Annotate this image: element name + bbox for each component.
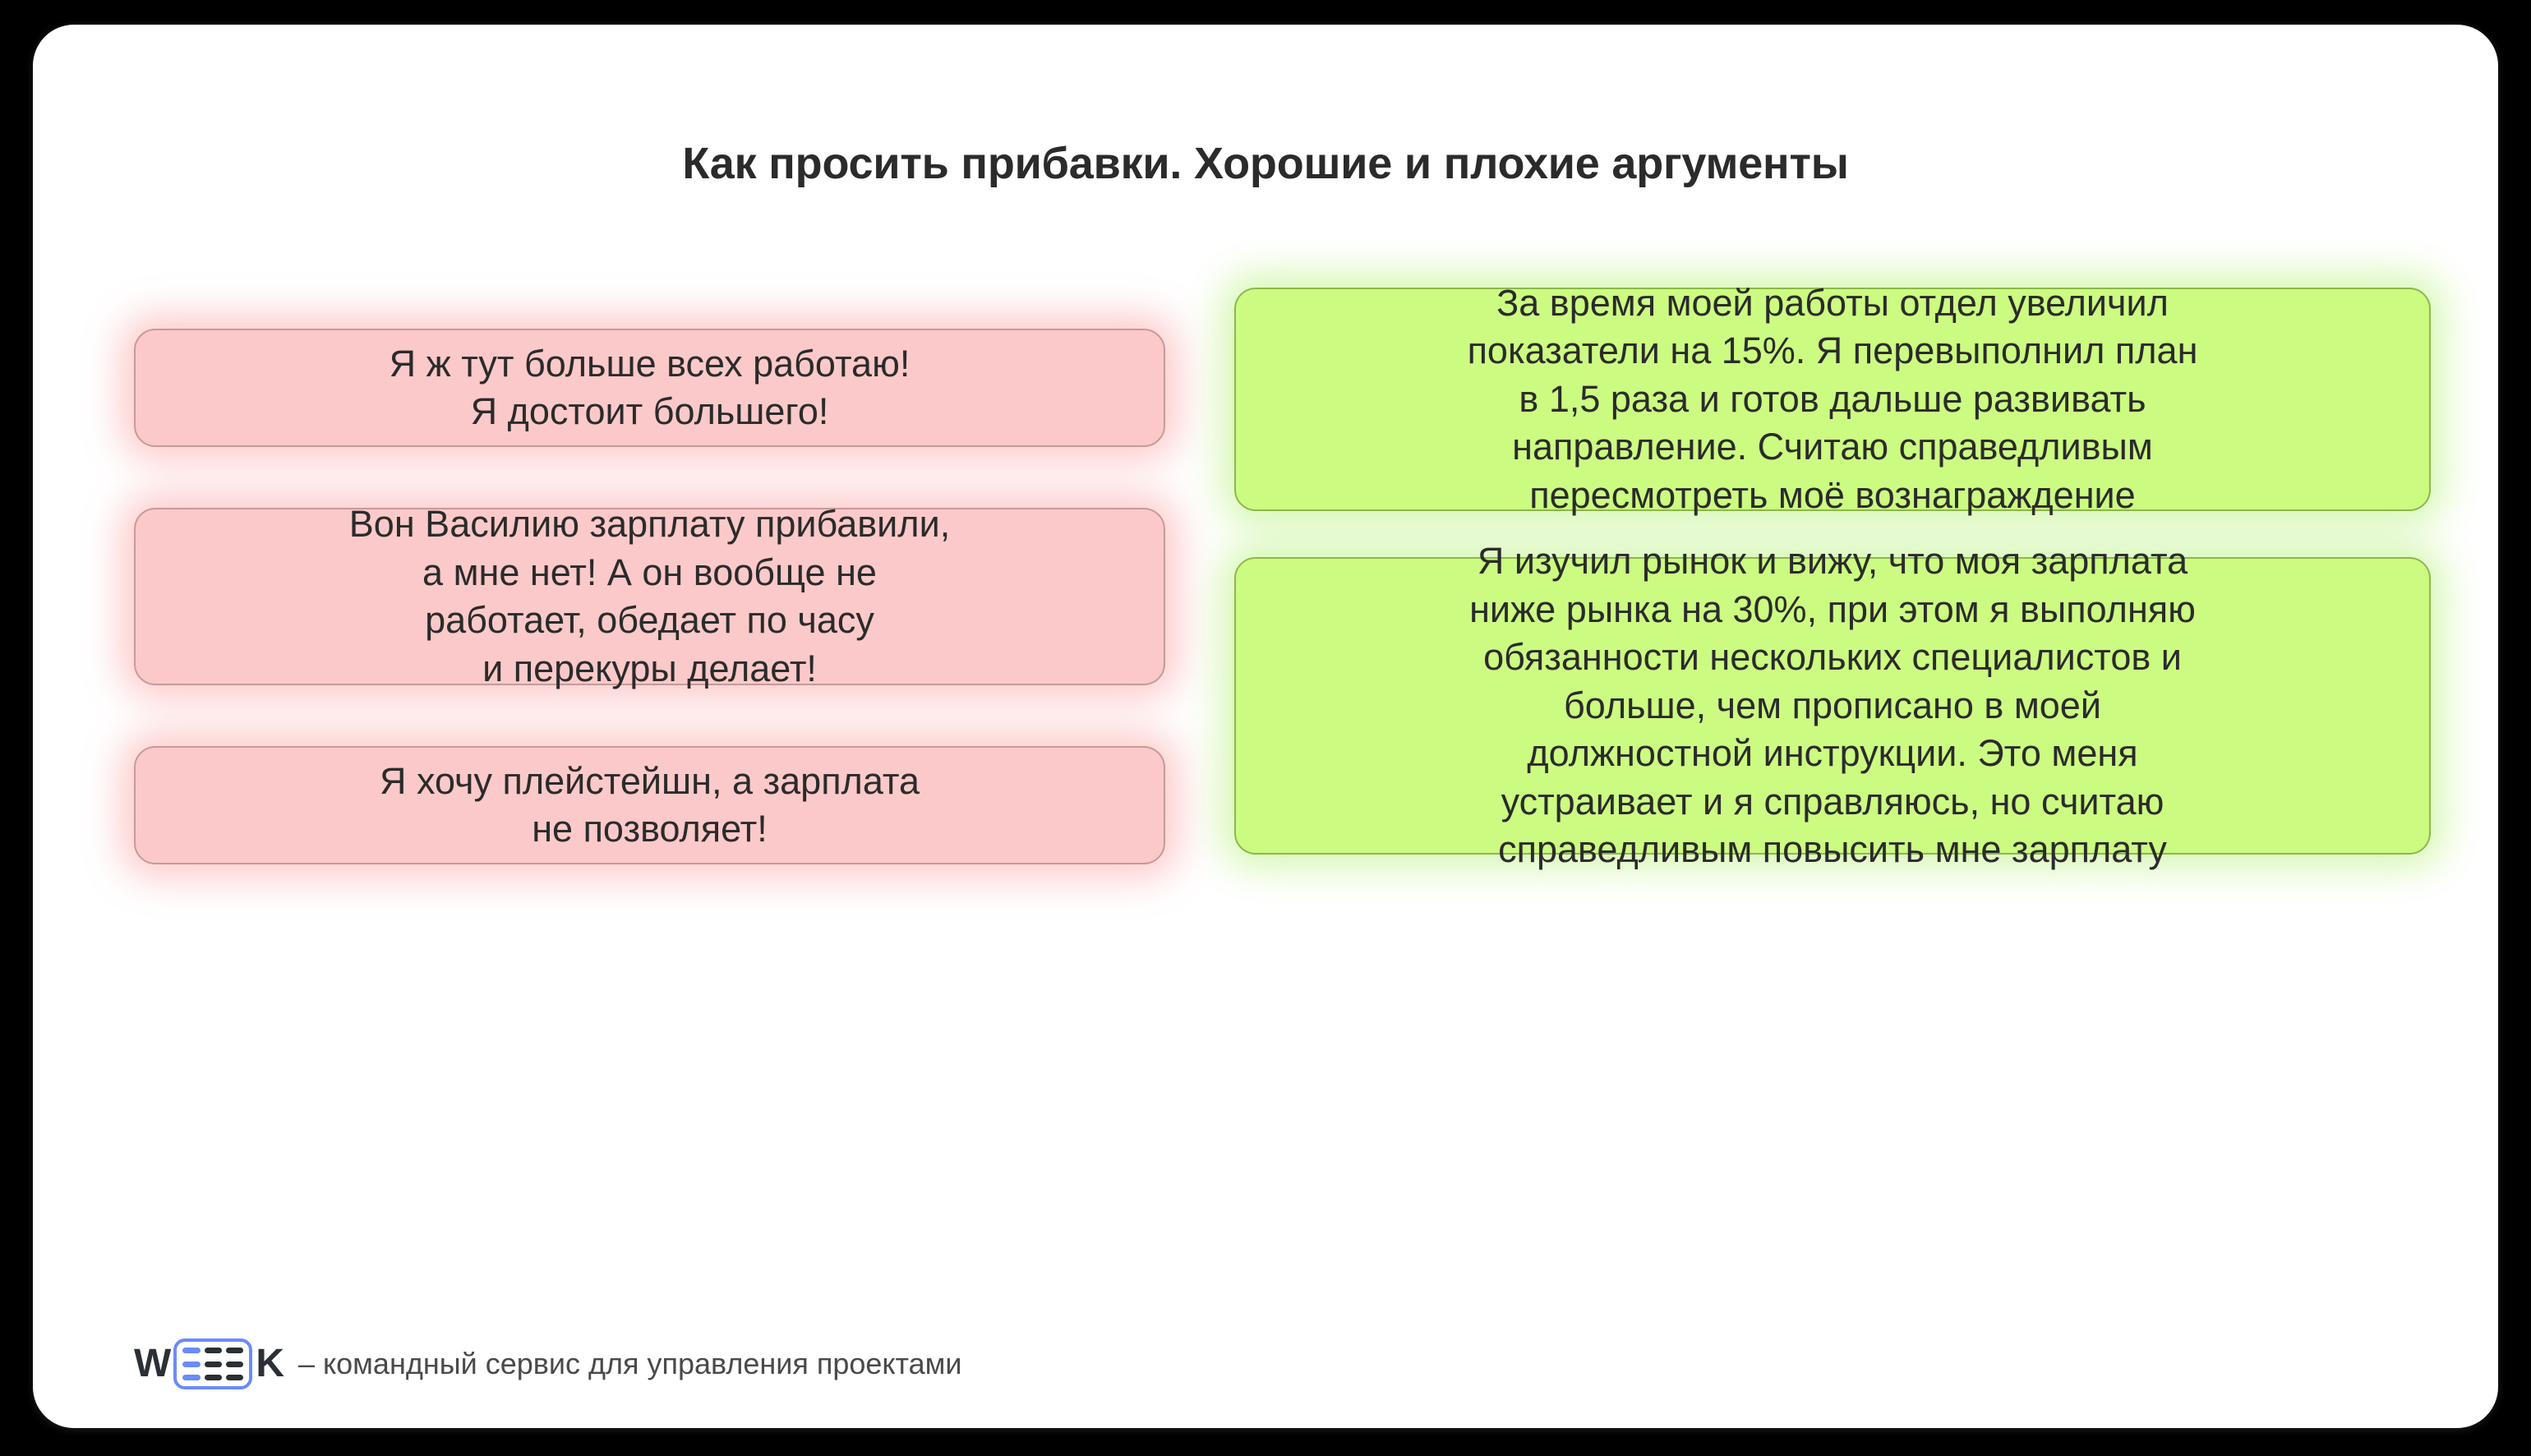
bad-argument-text-3: Я хочу плейстейшн, а зарплата не позволя… — [167, 758, 1132, 854]
page-title: Как просить прибавки. Хорошие и плохие а… — [33, 138, 2498, 189]
grid-bar — [182, 1375, 200, 1380]
good-argument-text-1: За время моей работы отдел увеличил пока… — [1267, 279, 2398, 520]
grid-bar — [205, 1375, 222, 1380]
grid-bar — [226, 1362, 243, 1367]
screenshot-root: Как просить прибавки. Хорошие и плохие а… — [0, 0, 2531, 1456]
bad-arguments-column: Я ж тут больше всех работаю! Я достоит б… — [134, 329, 1165, 864]
weeek-grid-icon — [173, 1339, 252, 1389]
good-argument-card-1: За время моей работы отдел увеличил пока… — [1234, 288, 2431, 511]
footer-tagline: – командный сервис для управления проект… — [298, 1347, 962, 1381]
bad-argument-card-2: Вон Василию зарплату прибавили, а мне не… — [134, 508, 1165, 685]
good-arguments-column: За время моей работы отдел увеличил пока… — [1234, 288, 2431, 855]
footer: W — [134, 1339, 962, 1389]
bad-argument-text-1: Я ж тут больше всех работаю! Я достоит б… — [167, 340, 1132, 436]
bad-argument-text-2: Вон Василию зарплату прибавили, а мне не… — [167, 500, 1132, 693]
grid-bar — [205, 1348, 222, 1353]
grid-bar — [182, 1348, 200, 1353]
bad-argument-card-1: Я ж тут больше всех работаю! Я достоит б… — [134, 329, 1165, 447]
slide-card: Как просить прибавки. Хорошие и плохие а… — [33, 25, 2498, 1428]
good-argument-card-2: Я изучил рынок и вижу, что моя зарплата … — [1234, 557, 2431, 855]
grid-bar — [226, 1375, 243, 1380]
grid-bar — [226, 1348, 243, 1353]
grid-column-2 — [205, 1348, 222, 1380]
grid-column-3 — [226, 1348, 243, 1380]
grid-column-1 — [182, 1348, 200, 1380]
bad-argument-card-3: Я хочу плейстейшн, а зарплата не позволя… — [134, 746, 1165, 864]
grid-bar — [182, 1362, 200, 1367]
weeek-logo: W — [134, 1339, 284, 1389]
logo-letter-w: W — [134, 1344, 170, 1384]
grid-bar — [205, 1362, 222, 1367]
logo-letter-k: K — [256, 1344, 284, 1384]
good-argument-text-2: Я изучил рынок и вижу, что моя зарплата … — [1267, 537, 2398, 874]
